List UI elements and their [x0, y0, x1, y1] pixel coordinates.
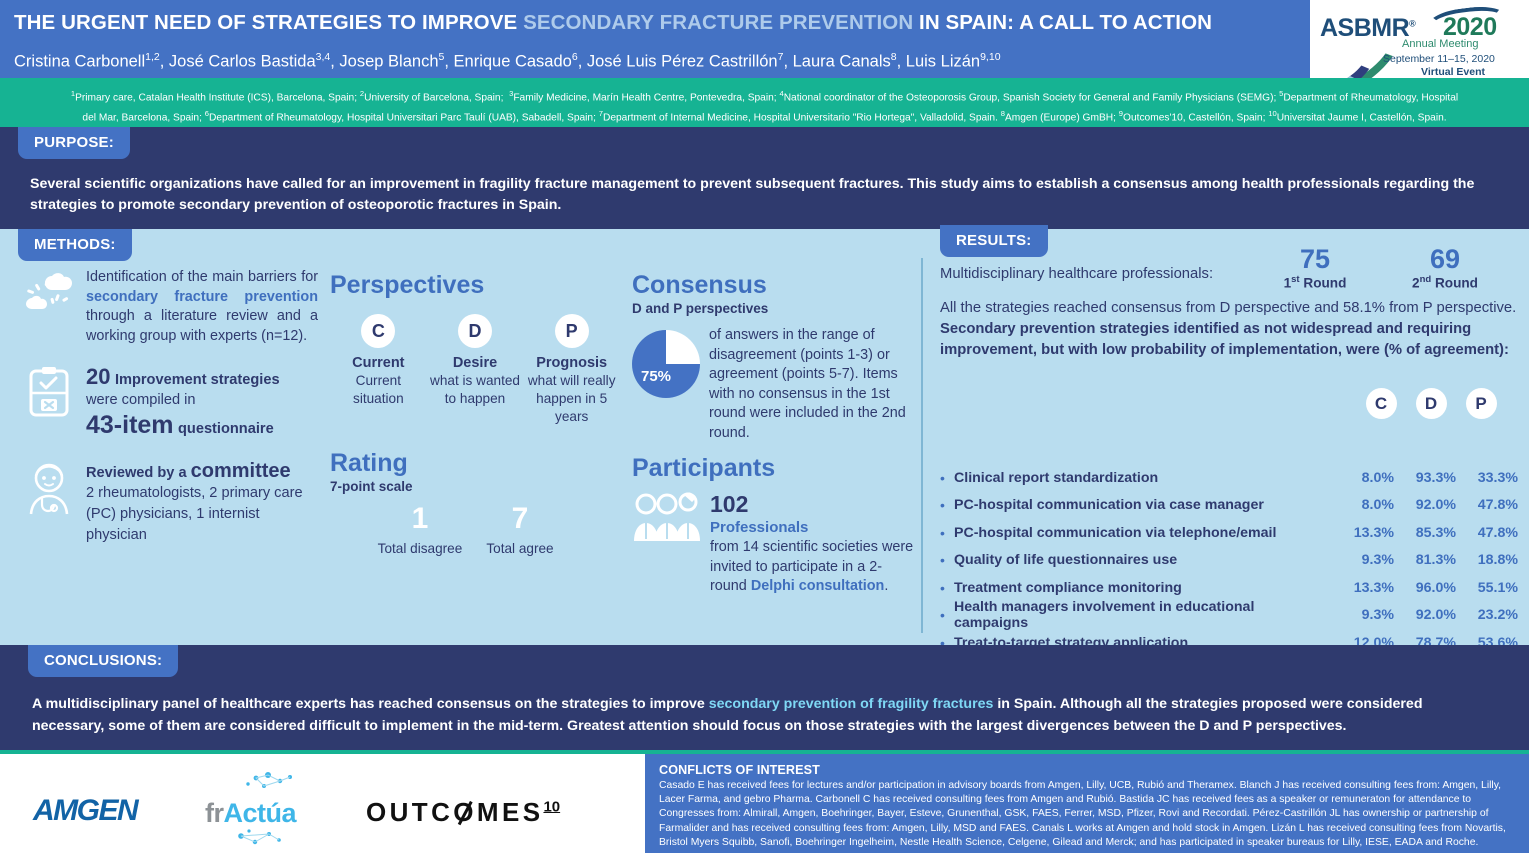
- round-1-label: 1st Round: [1250, 274, 1380, 291]
- registered-mark-icon: ®: [1409, 19, 1415, 29]
- poster-root: THE URGENT NEED OF STRATEGIES TO IMPROVE…: [0, 0, 1529, 853]
- table-row: • Health managers involvement in educati…: [940, 602, 1518, 630]
- title-part2: IN SPAIN: A CALL TO ACTION: [913, 11, 1212, 34]
- bullet-icon: •: [940, 552, 954, 568]
- bullet-icon: •: [940, 497, 954, 513]
- barriers-icon: [18, 270, 80, 325]
- consensus-row: 75% of answers in the range of disagreem…: [632, 326, 917, 443]
- bullet-icon: •: [940, 525, 954, 541]
- page-title: THE URGENT NEED OF STRATEGIES TO IMPROVE…: [14, 10, 1304, 36]
- consensus-text: of answers in the range of disagreement …: [709, 326, 917, 443]
- strategies-count: 20: [86, 364, 110, 389]
- title-highlight: SECONDARY FRACTURE PREVENTION: [523, 11, 913, 34]
- consensus-heading: Consensus: [632, 270, 917, 300]
- affiliations-line-1: 1Primary care, Catalan Health Institute …: [10, 86, 1519, 106]
- people-group-icon: [632, 491, 704, 597]
- perspective-current: C Current Current situation: [330, 314, 427, 426]
- consensus-sub: D and P perspectives: [632, 301, 917, 316]
- fractua-dots-bottom-icon: [225, 828, 295, 850]
- table-row: • PC-hospital communication via case man…: [940, 492, 1518, 520]
- round-1-count: 75: [1250, 244, 1380, 274]
- methods-item-committee: Reviewed by a committee 2 rheumatologist…: [18, 460, 318, 546]
- methods-column-1: Identification of the main barriers for …: [18, 268, 318, 560]
- author-list: Cristina Carbonell1,2, José Carlos Basti…: [14, 46, 1304, 73]
- bullet-icon: •: [940, 607, 954, 623]
- results-tag: RESULTS:: [940, 225, 1048, 257]
- methods-item-strategies: 20 Improvement strategies were compiled …: [18, 364, 318, 440]
- rating-heading: Rating: [330, 448, 620, 478]
- consensus-pie-label: 75%: [641, 368, 671, 385]
- outcomes-logo: OUTCOMES10: [366, 797, 560, 828]
- methods-item-barriers: Identification of the main barriers for …: [18, 268, 318, 346]
- fractua-logo: frActúa: [205, 798, 296, 829]
- conflicts-of-interest: CONFLICTS OF INTEREST Casado E has recei…: [645, 754, 1529, 853]
- purpose-text: Several scientific organizations have ca…: [30, 174, 1500, 216]
- affiliations-line-2: del Mar, Barcelona, Spain; 6Department o…: [10, 106, 1519, 126]
- participants-heading: Participants: [632, 453, 917, 483]
- round-2: 69 2nd Round: [1380, 244, 1510, 291]
- asbmr-meeting-label: Annual Meeting: [1402, 38, 1478, 50]
- perspectives-row: C Current Current situation D Desire wha…: [330, 314, 620, 426]
- bullet-icon: •: [940, 580, 954, 596]
- questionnaire-items: 43-item: [86, 411, 174, 439]
- conclusions-tag: CONCLUSIONS:: [28, 645, 178, 677]
- outcomes-slashed-o-icon: O: [453, 797, 477, 828]
- coi-body: Casado E has received fees for lectures …: [659, 779, 1517, 850]
- methods-committee-text: Reviewed by a committee 2 rheumatologist…: [86, 460, 318, 546]
- participants-row: 102 Professionals from 14 scientific soc…: [632, 491, 917, 597]
- title-part1: THE URGENT NEED OF STRATEGIES TO IMPROVE: [14, 11, 523, 34]
- round-2-count: 69: [1380, 244, 1510, 274]
- methods-tag: METHODS:: [18, 229, 132, 261]
- perspective-letter-c: C: [361, 314, 395, 348]
- asbmr-event-type: Virtual Event: [1421, 66, 1485, 78]
- column-header-c: C: [1356, 388, 1406, 419]
- participants-count: 102: [710, 491, 917, 518]
- column-header-d: D: [1406, 388, 1456, 419]
- conclusions-text: A multidisciplinary panel of healthcare …: [32, 694, 1497, 737]
- rounds-summary: 75 1st Round 69 2nd Round: [1250, 244, 1510, 291]
- asbmr-logo: ASBMR® 2020 Annual Meeting September 11–…: [1310, 0, 1529, 78]
- perspective-prognosis: P Prognosis what will really happen in 5…: [523, 314, 620, 426]
- poster-header: THE URGENT NEED OF STRATEGIES TO IMPROVE…: [0, 0, 1529, 78]
- amgen-logo: AMGEN: [33, 794, 137, 828]
- table-row: • Clinical report standardization 8.0% 9…: [940, 464, 1518, 492]
- purpose-tag: PURPOSE:: [18, 127, 130, 159]
- vertical-divider: [921, 258, 923, 633]
- coi-title: CONFLICTS OF INTEREST: [659, 763, 1517, 777]
- fractua-dots-top-icon: [238, 772, 308, 798]
- methods-barriers-text: Identification of the main barriers for …: [86, 268, 318, 346]
- round-1: 75 1st Round: [1250, 244, 1380, 291]
- perspective-letter-p: P: [555, 314, 589, 348]
- table-row: • Treatment compliance monitoring 13.3% …: [940, 574, 1518, 602]
- table-row: • Quality of life questionnaires use 9.3…: [940, 547, 1518, 575]
- consensus-pie-chart: 75%: [632, 330, 700, 398]
- methods-column-3: Consensus D and P perspectives 75% of an…: [632, 270, 917, 597]
- perspectives-heading: Perspectives: [330, 270, 620, 300]
- perspective-desire: D Desire what is wanted to happen: [427, 314, 524, 426]
- rating-point-min: 1 Total disagree: [370, 502, 470, 558]
- round-2-label: 2nd Round: [1380, 274, 1510, 291]
- column-header-p: P: [1456, 388, 1506, 419]
- asbmr-dates: September 11–15, 2020: [1383, 53, 1495, 65]
- rating-sub: 7-point scale: [330, 479, 620, 494]
- rating-scale: 1 Total disagree 7 Total agree: [330, 502, 620, 558]
- results-column-headers: C D P: [1356, 388, 1506, 419]
- participants-text: 102 Professionals from 14 scientific soc…: [710, 491, 917, 597]
- affiliations: 1Primary care, Catalan Health Institute …: [0, 78, 1529, 127]
- results-area: 75 1st Round 69 2nd Round Multidisciplin…: [940, 266, 1518, 361]
- table-row: • PC-hospital communication via telephon…: [940, 519, 1518, 547]
- results-paragraph: All the strategies reached consensus fro…: [940, 298, 1518, 361]
- methods-strategies-text: 20 Improvement strategies were compiled …: [86, 364, 318, 440]
- bullet-icon: •: [940, 470, 954, 486]
- poster-footer: AMGEN frActúa: [0, 754, 1529, 853]
- rating-block: Rating 7-point scale 1 Total disagree 7 …: [330, 448, 620, 558]
- rating-point-max: 7 Total agree: [470, 502, 570, 558]
- doctor-icon: [18, 462, 80, 523]
- sponsor-logos: AMGEN frActúa: [0, 754, 640, 853]
- perspective-letter-d: D: [458, 314, 492, 348]
- checklist-icon: [18, 366, 80, 423]
- methods-column-2: Perspectives C Current Current situation…: [330, 270, 620, 558]
